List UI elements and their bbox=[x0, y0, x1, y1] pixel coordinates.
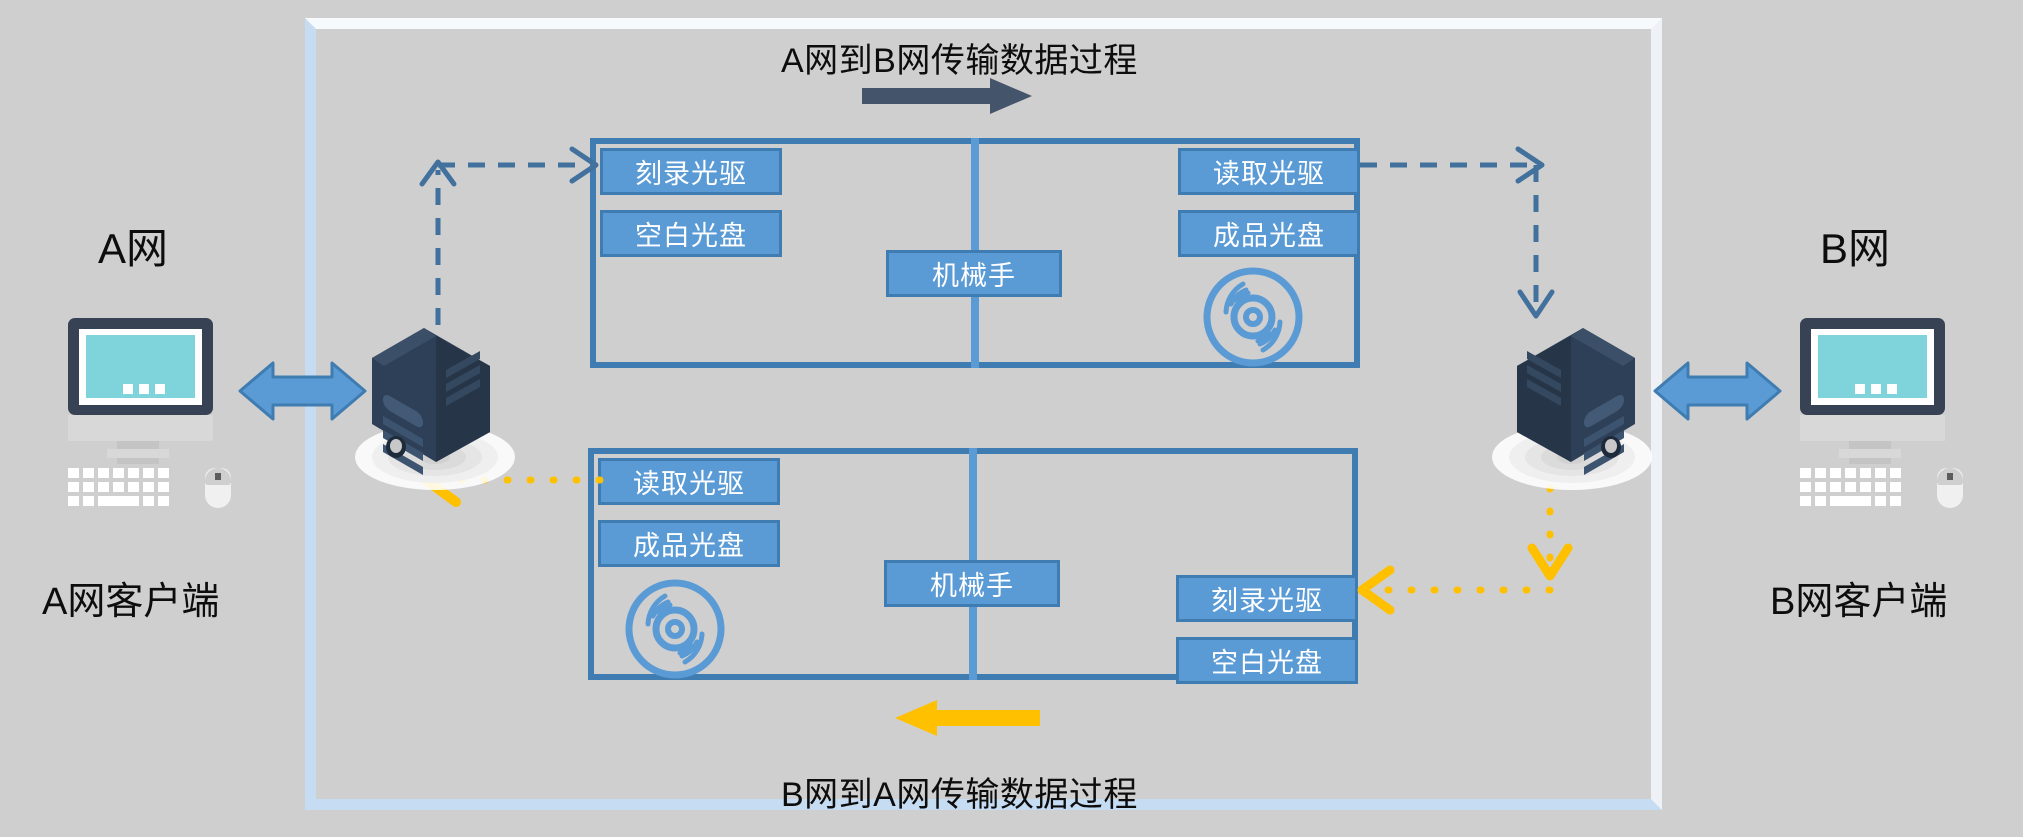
monitor-base-left bbox=[68, 415, 213, 441]
screen-dot-3-right bbox=[1887, 384, 1897, 394]
screen-dot-2-right bbox=[1871, 384, 1881, 394]
diagram-canvas: A网到B网传输数据过程 B网到A网传输数据过程 刻录光驱 空白光盘 机械手 读取… bbox=[0, 0, 2023, 837]
server-tower-right bbox=[1487, 310, 1657, 490]
top-process-title: A网到B网传输数据过程 bbox=[781, 33, 1138, 82]
screen-dot-1-left bbox=[123, 384, 133, 394]
dashed-path-machine-to-b bbox=[1358, 140, 1558, 330]
network-label-a: A网 bbox=[98, 215, 168, 276]
screen-dot-3-left bbox=[155, 384, 165, 394]
monitor-base-right bbox=[1800, 415, 1945, 441]
client-label-a: A网客户端 bbox=[42, 570, 219, 625]
chip-finished-disc-top-right[interactable]: 成品光盘 bbox=[1178, 210, 1360, 257]
top-flow-arrow-icon bbox=[862, 78, 1032, 114]
monitor-foot-left bbox=[107, 449, 169, 458]
chip-burn-drive-top-left[interactable]: 刻录光驱 bbox=[600, 148, 782, 195]
chip-finished-disc-bottom-left[interactable]: 成品光盘 bbox=[598, 520, 780, 567]
screen-dot-1-right bbox=[1855, 384, 1865, 394]
chip-blank-disc-bottom-right[interactable]: 空白光盘 bbox=[1176, 637, 1358, 684]
optical-disc-icon-top bbox=[1198, 266, 1308, 368]
client-label-b: B网客户端 bbox=[1770, 570, 1947, 625]
chip-read-drive-bottom-left[interactable]: 读取光驱 bbox=[598, 458, 780, 505]
chip-burn-drive-bottom-right[interactable]: 刻录光驱 bbox=[1176, 575, 1358, 622]
chip-read-drive-top-right[interactable]: 读取光驱 bbox=[1178, 148, 1360, 195]
chip-robot-arm-bottom[interactable]: 机械手 bbox=[884, 560, 1060, 607]
network-label-b: B网 bbox=[1820, 215, 1890, 276]
keyboard-left bbox=[68, 468, 173, 510]
link-arrow-right bbox=[1655, 360, 1780, 422]
screen-dot-2-left bbox=[139, 384, 149, 394]
link-arrow-left bbox=[240, 360, 365, 422]
keyboard-right bbox=[1800, 468, 1905, 510]
bottom-flow-arrow-icon bbox=[895, 700, 1040, 736]
chip-blank-disc-top-left[interactable]: 空白光盘 bbox=[600, 210, 782, 257]
monitor-foot-right bbox=[1839, 449, 1901, 458]
chip-robot-arm-top[interactable]: 机械手 bbox=[886, 250, 1062, 297]
bottom-process-title: B网到A网传输数据过程 bbox=[781, 767, 1138, 816]
optical-disc-icon-bottom bbox=[620, 578, 730, 680]
server-tower-left bbox=[350, 310, 520, 490]
